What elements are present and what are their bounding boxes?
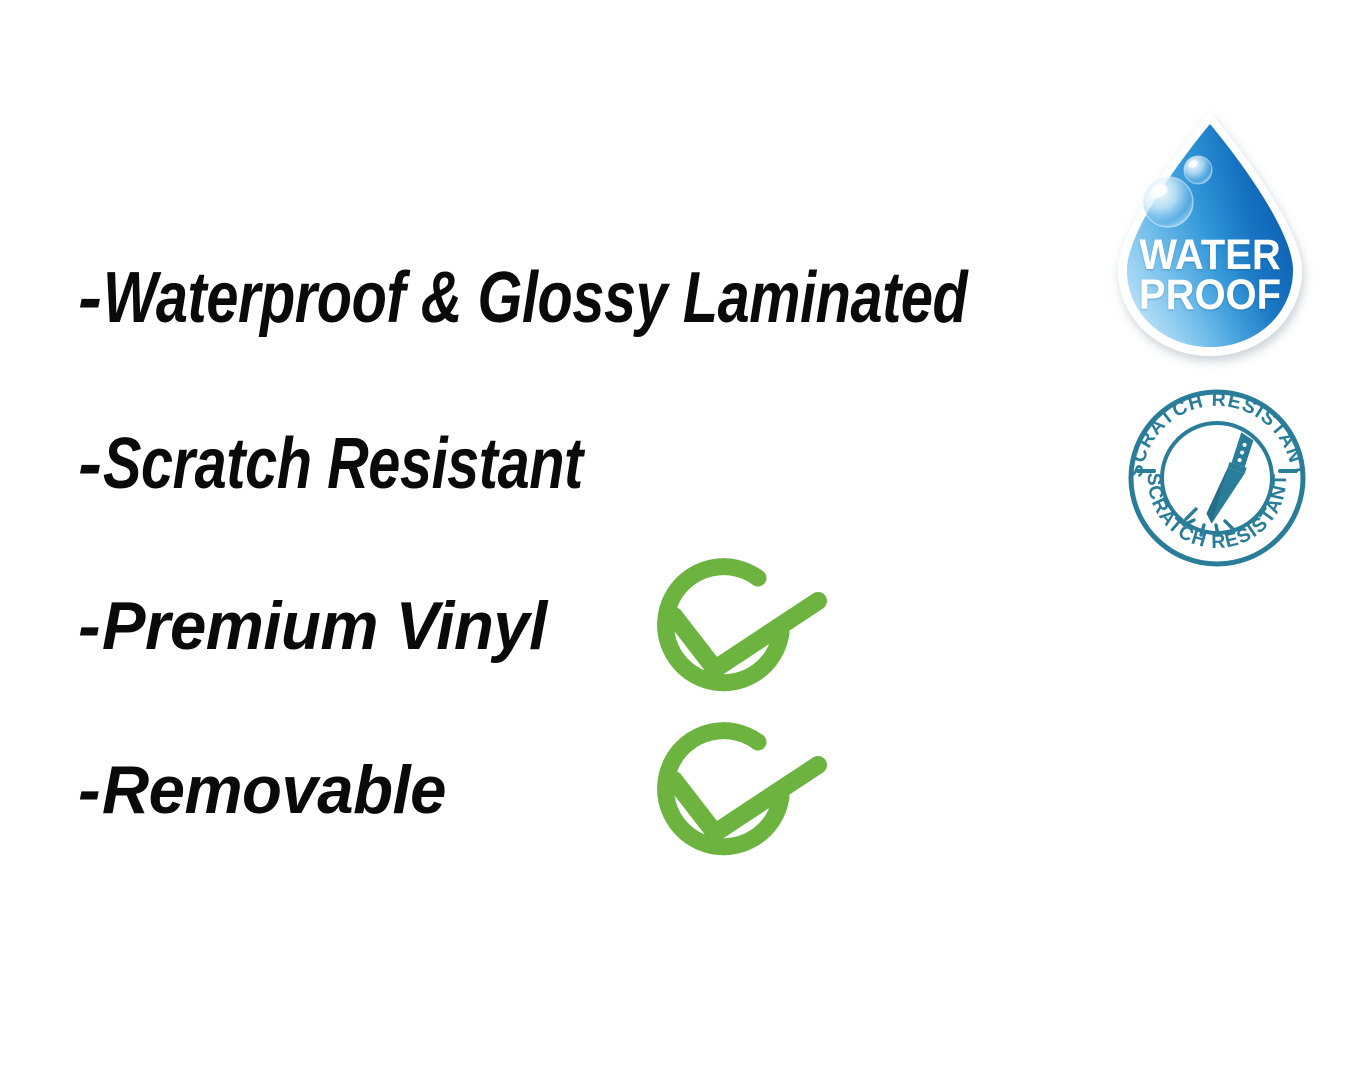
waterproof-badge: WATER PROOF [1106, 108, 1314, 360]
droplet-sheen [1127, 124, 1293, 347]
check-stroke [674, 601, 818, 669]
check-circle-icon [636, 556, 836, 716]
water-bubble-large [1143, 177, 1193, 227]
feature-label: Scratch Resistant [103, 428, 583, 500]
feature-item-premium-vinyl: -Premium Vinyl [78, 592, 566, 660]
feature-item-removable: -Removable [78, 756, 460, 824]
scratch-resistant-badge: SCRATCH RESISTANT SCRATCH RESISTANT [1122, 383, 1312, 569]
knife-seal-icon: SCRATCH RESISTANT SCRATCH RESISTANT [1122, 383, 1312, 569]
water-drop-icon [1106, 108, 1314, 360]
feature-label: Waterproof & Glossy Laminated [103, 262, 967, 334]
feature-label: Premium Vinyl [102, 592, 547, 660]
check-removable [636, 720, 836, 880]
knife-icon [1204, 430, 1256, 529]
feature-label: Removable [102, 756, 446, 824]
feature-item-scratch-resistant: -Scratch Resistant [78, 428, 703, 500]
promo-feature-panel: -Waterproof & Glossy Laminated -Scratch … [0, 0, 1359, 1080]
check-stroke [674, 765, 818, 833]
feature-dash: - [78, 262, 101, 334]
seal-arc-text-top: SCRATCH RESISTANT [1125, 389, 1309, 479]
water-bubble-small [1184, 156, 1212, 184]
feature-item-waterproof-glossy-laminated: -Waterproof & Glossy Laminated [78, 262, 1184, 334]
feature-dash: - [78, 756, 100, 824]
check-circle-icon [636, 720, 836, 880]
feature-dash: - [78, 428, 101, 500]
check-premium-vinyl [636, 556, 836, 716]
feature-dash: - [78, 592, 100, 660]
